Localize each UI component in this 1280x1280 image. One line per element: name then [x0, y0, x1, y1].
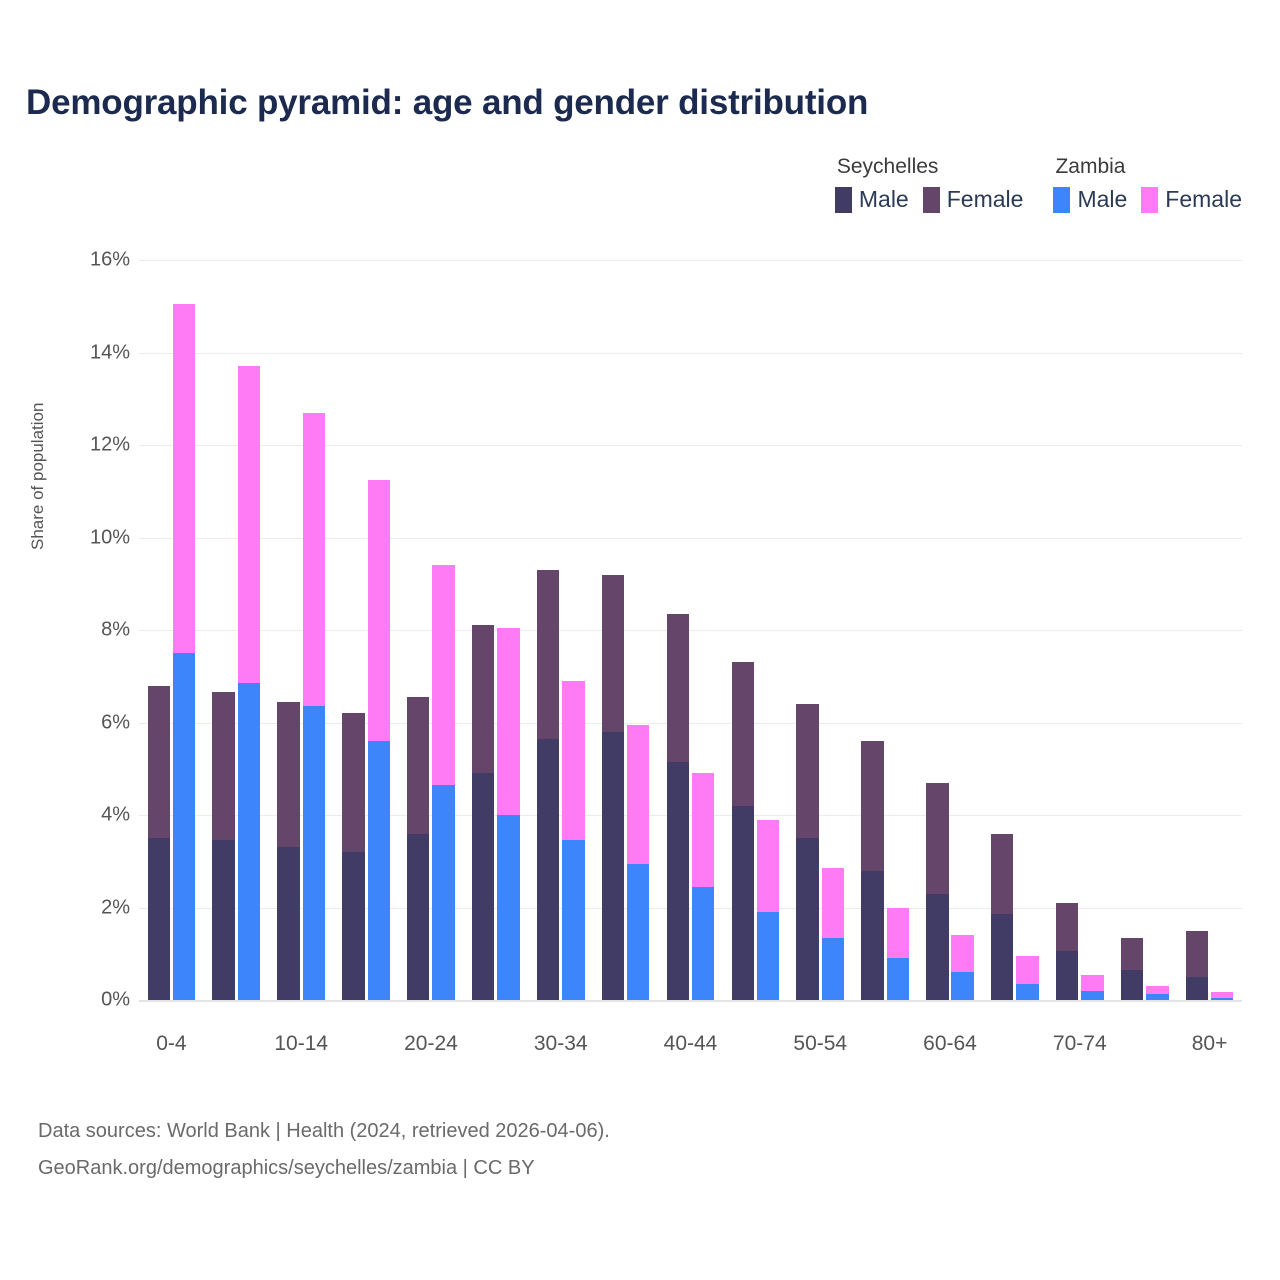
- bar-segment[interactable]: [432, 785, 454, 1000]
- bar-zambia[interactable]: [1016, 956, 1038, 1000]
- bar-segment[interactable]: [472, 625, 494, 773]
- bar-segment[interactable]: [692, 887, 714, 1000]
- bar-group: [334, 260, 399, 1000]
- bar-zambia[interactable]: [368, 480, 390, 1000]
- x-tick-label: 40-44: [664, 1032, 718, 1056]
- bar-seychelles[interactable]: [861, 741, 883, 1000]
- bar-segment[interactable]: [342, 713, 364, 852]
- bar-segment[interactable]: [627, 725, 649, 864]
- bar-segment[interactable]: [757, 820, 779, 913]
- y-tick-label: 6%: [70, 711, 130, 734]
- bar-segment[interactable]: [1081, 991, 1103, 1000]
- bar-group: [982, 260, 1047, 1000]
- bar-seychelles[interactable]: [342, 713, 364, 1000]
- bar-segment[interactable]: [238, 366, 260, 683]
- bar-zambia[interactable]: [757, 820, 779, 1000]
- y-axis-ticks: 0%2%4%6%8%10%12%14%16%: [70, 0, 130, 1280]
- bar-segment[interactable]: [562, 840, 584, 1000]
- footer-attribution: GeoRank.org/demographics/seychelles/zamb…: [38, 1150, 610, 1187]
- bar-segment[interactable]: [303, 706, 325, 1000]
- x-tick-label: 70-74: [1053, 1032, 1107, 1056]
- bar-group: [658, 260, 723, 1000]
- bar-segment[interactable]: [796, 704, 818, 838]
- plot-area: Share of population 0%2%4%6%8%10%12%14%1…: [0, 0, 1280, 1280]
- bar-segment[interactable]: [861, 871, 883, 1001]
- bar-segment[interactable]: [407, 697, 429, 833]
- footer-data-sources: Data sources: World Bank | Health (2024,…: [38, 1113, 610, 1150]
- bar-zambia[interactable]: [562, 681, 584, 1000]
- y-tick-label: 0%: [70, 989, 130, 1012]
- bar-group: [1177, 260, 1242, 1000]
- axis-baseline: [139, 1000, 1242, 1002]
- y-tick-label: 2%: [70, 896, 130, 919]
- bar-seychelles[interactable]: [796, 704, 818, 1000]
- x-tick-label: 50-54: [793, 1032, 847, 1056]
- bar-segment[interactable]: [887, 958, 909, 1000]
- bar-zambia[interactable]: [887, 908, 909, 1001]
- bar-segment[interactable]: [926, 894, 948, 1000]
- y-axis-title: Share of population: [28, 520, 48, 550]
- bar-seychelles[interactable]: [212, 692, 234, 1000]
- bar-segment[interactable]: [1056, 951, 1078, 1000]
- bar-segment[interactable]: [1146, 994, 1168, 1000]
- bar-segment[interactable]: [951, 972, 973, 1000]
- bar-zambia[interactable]: [303, 413, 325, 1000]
- bar-segment[interactable]: [407, 834, 429, 1001]
- x-tick-label: 20-24: [404, 1032, 458, 1056]
- bar-segment[interactable]: [1211, 992, 1233, 998]
- bar-zambia[interactable]: [822, 868, 844, 1000]
- bar-zambia[interactable]: [1081, 975, 1103, 1000]
- bar-segment[interactable]: [602, 732, 624, 1000]
- bar-zambia[interactable]: [1146, 986, 1168, 1000]
- bar-segment[interactable]: [1081, 975, 1103, 991]
- bar-segment[interactable]: [602, 575, 624, 732]
- bar-segment[interactable]: [887, 908, 909, 959]
- bar-segment[interactable]: [1056, 903, 1078, 952]
- bar-segment[interactable]: [148, 838, 170, 1000]
- bars-layer: [139, 260, 1242, 1000]
- bar-segment[interactable]: [667, 762, 689, 1000]
- bar-seychelles[interactable]: [991, 834, 1013, 1001]
- bar-segment[interactable]: [861, 741, 883, 871]
- bar-group: [723, 260, 788, 1000]
- bar-segment[interactable]: [1146, 986, 1168, 994]
- x-tick-label: 60-64: [923, 1032, 977, 1056]
- bar-segment[interactable]: [1121, 970, 1143, 1000]
- bar-zambia[interactable]: [238, 366, 260, 1000]
- y-tick-label: 10%: [70, 526, 130, 549]
- bar-group: [528, 260, 593, 1000]
- bar-zambia[interactable]: [497, 628, 519, 1000]
- bar-group: [788, 260, 853, 1000]
- bar-segment[interactable]: [472, 773, 494, 1000]
- bar-segment[interactable]: [173, 304, 195, 653]
- bar-segment[interactable]: [212, 692, 234, 840]
- bar-segment[interactable]: [173, 653, 195, 1000]
- bar-segment[interactable]: [148, 686, 170, 839]
- bar-segment[interactable]: [368, 741, 390, 1000]
- bar-zambia[interactable]: [627, 725, 649, 1000]
- bar-seychelles[interactable]: [537, 570, 559, 1000]
- bar-group: [204, 260, 269, 1000]
- bar-segment[interactable]: [627, 864, 649, 1000]
- bar-seychelles[interactable]: [472, 625, 494, 1000]
- x-tick-label: 0-4: [156, 1032, 186, 1056]
- bar-segment[interactable]: [537, 739, 559, 1000]
- bar-group: [1047, 260, 1112, 1000]
- y-tick-label: 4%: [70, 804, 130, 827]
- bar-segment[interactable]: [368, 480, 390, 741]
- bar-segment[interactable]: [732, 662, 754, 805]
- x-tick-label: 80+: [1192, 1032, 1228, 1056]
- bar-group: [269, 260, 334, 1000]
- bar-zambia[interactable]: [1211, 992, 1233, 1000]
- bar-group: [918, 260, 983, 1000]
- bar-seychelles[interactable]: [277, 702, 299, 1000]
- y-tick-label: 14%: [70, 341, 130, 364]
- x-tick-label: 10-14: [274, 1032, 328, 1056]
- bar-seychelles[interactable]: [148, 686, 170, 1001]
- bar-segment[interactable]: [497, 815, 519, 1000]
- bar-seychelles[interactable]: [1121, 938, 1143, 1000]
- bar-segment[interactable]: [303, 413, 325, 707]
- bar-zambia[interactable]: [432, 565, 454, 1000]
- footer: Data sources: World Bank | Health (2024,…: [38, 1113, 610, 1187]
- bar-segment[interactable]: [991, 834, 1013, 915]
- bar-segment[interactable]: [238, 683, 260, 1000]
- bar-segment[interactable]: [562, 681, 584, 841]
- bar-segment[interactable]: [497, 628, 519, 815]
- y-tick-label: 16%: [70, 249, 130, 272]
- bar-seychelles[interactable]: [1056, 903, 1078, 1000]
- bar-seychelles[interactable]: [602, 575, 624, 1001]
- bar-segment[interactable]: [1016, 984, 1038, 1000]
- bar-zambia[interactable]: [951, 935, 973, 1000]
- chart-root: Demographic pyramid: age and gender dist…: [0, 0, 1280, 1280]
- bar-group: [139, 260, 204, 1000]
- bar-group: [593, 260, 658, 1000]
- bar-group: [853, 260, 918, 1000]
- bar-group: [399, 260, 464, 1000]
- bar-segment[interactable]: [537, 570, 559, 739]
- bar-segment[interactable]: [212, 840, 234, 1000]
- bar-segment[interactable]: [757, 912, 779, 1000]
- bar-segment[interactable]: [991, 914, 1013, 1000]
- bar-zambia[interactable]: [173, 304, 195, 1000]
- bar-segment[interactable]: [432, 565, 454, 785]
- bar-segment[interactable]: [692, 773, 714, 886]
- bar-group: [463, 260, 528, 1000]
- bar-segment[interactable]: [667, 614, 689, 762]
- bar-segment[interactable]: [277, 847, 299, 1000]
- bar-segment[interactable]: [822, 868, 844, 937]
- bar-segment[interactable]: [732, 806, 754, 1000]
- bar-segment[interactable]: [342, 852, 364, 1000]
- bar-segment[interactable]: [1016, 956, 1038, 984]
- bar-segment[interactable]: [1186, 931, 1208, 977]
- bar-segment[interactable]: [822, 938, 844, 1000]
- bar-seychelles[interactable]: [732, 662, 754, 1000]
- bar-segment[interactable]: [1186, 977, 1208, 1000]
- bar-segment[interactable]: [796, 838, 818, 1000]
- bar-segment[interactable]: [1121, 938, 1143, 970]
- bar-seychelles[interactable]: [407, 697, 429, 1000]
- bar-segment[interactable]: [951, 935, 973, 972]
- bar-segment[interactable]: [1211, 998, 1233, 1000]
- bar-segment[interactable]: [277, 702, 299, 848]
- bar-seychelles[interactable]: [667, 614, 689, 1000]
- y-tick-label: 12%: [70, 434, 130, 457]
- bar-segment[interactable]: [926, 783, 948, 894]
- bar-zambia[interactable]: [692, 773, 714, 1000]
- y-tick-label: 8%: [70, 619, 130, 642]
- x-tick-label: 30-34: [534, 1032, 588, 1056]
- bar-seychelles[interactable]: [926, 783, 948, 1000]
- bar-seychelles[interactable]: [1186, 931, 1208, 1000]
- bar-group: [1112, 260, 1177, 1000]
